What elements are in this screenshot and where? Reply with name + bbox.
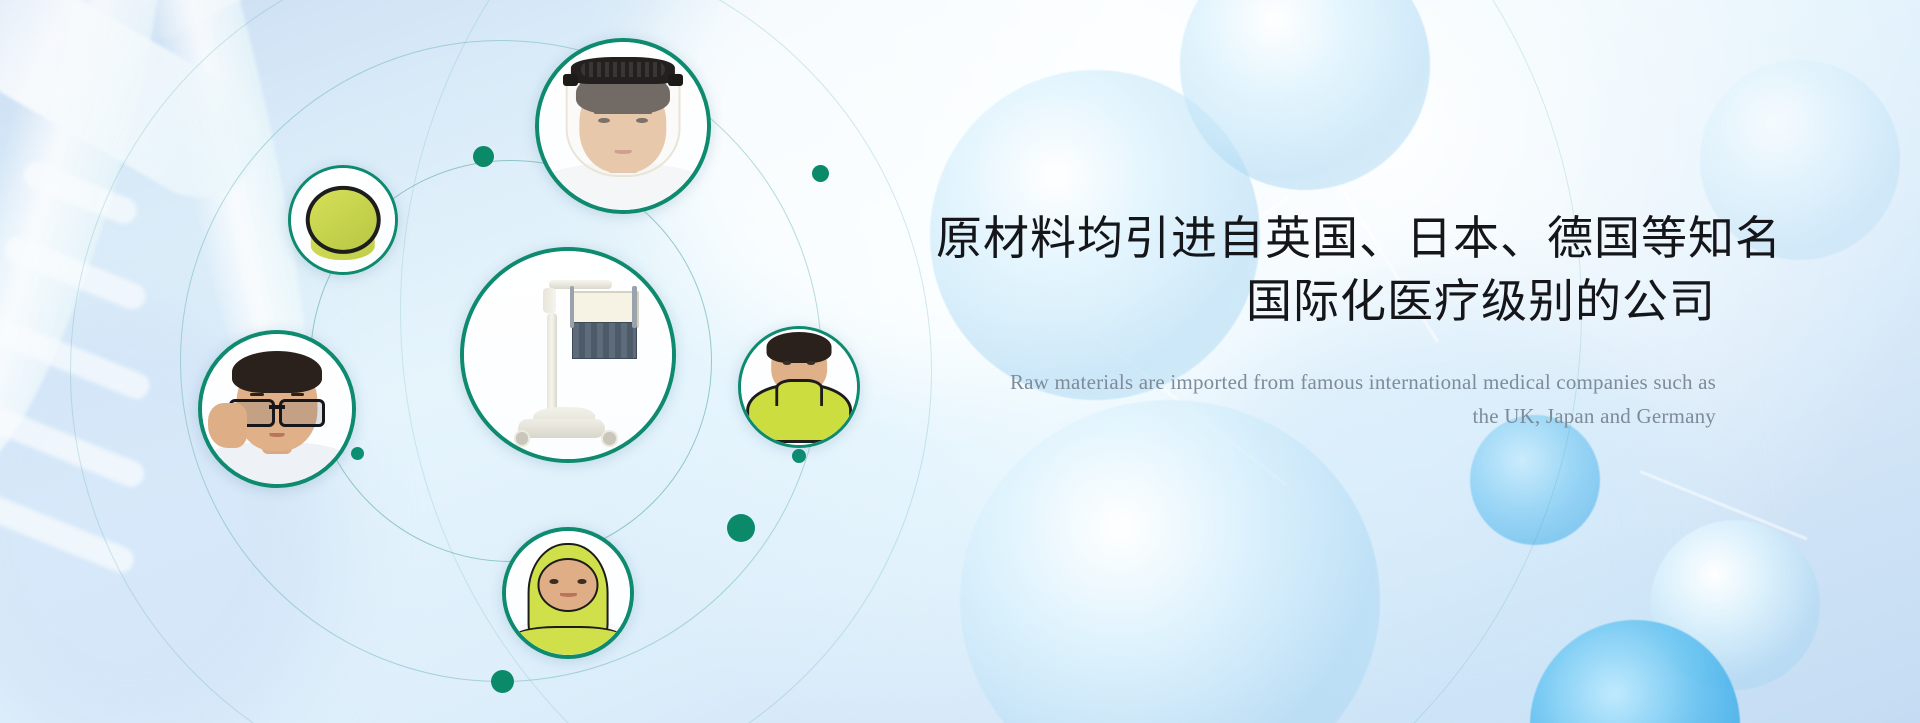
stand-base	[518, 419, 605, 438]
panel-hook-right	[632, 286, 636, 328]
molecule-sphere	[1650, 520, 1820, 690]
hair	[767, 332, 832, 362]
mouth	[559, 593, 576, 597]
shield-panel-skirt	[572, 322, 636, 359]
product-circle-mobile-shield[interactable]	[460, 247, 676, 463]
panel-hook-left	[570, 286, 574, 328]
product-circle-lead-glasses[interactable]	[198, 330, 356, 488]
cap-crown	[306, 186, 381, 254]
face-shield-pivot-left	[563, 74, 578, 86]
caster-left	[514, 430, 530, 446]
accent-dot	[491, 670, 514, 693]
eyebrow-left	[250, 393, 264, 396]
lead-glasses-photo	[202, 334, 352, 484]
subheadline: Raw materials are imported from famous i…	[936, 365, 1716, 433]
collar-neck	[775, 379, 823, 407]
hand	[208, 403, 247, 448]
thyroid-collar-cape	[746, 383, 852, 442]
stand-pole	[547, 313, 556, 421]
product-circle-lead-hood[interactable]	[502, 527, 634, 659]
headline-line-1: 原材料均引进自英国、日本、德国等知名	[936, 208, 1716, 269]
thyroid-collar-photo	[741, 329, 857, 445]
caster-right	[601, 430, 617, 446]
molecule-bond	[1639, 470, 1807, 540]
eye-left	[550, 579, 559, 583]
accent-dot	[792, 449, 806, 463]
product-circle-thyroid-collar[interactable]	[738, 326, 860, 448]
accent-dot	[351, 447, 364, 460]
glasses-bridge	[269, 405, 284, 409]
mouth	[270, 433, 285, 437]
hair	[232, 351, 322, 393]
face-shield-headband	[571, 57, 675, 84]
accent-dot	[812, 165, 829, 182]
hero-banner: 原材料均引进自英国、日本、德国等知名 国际化医疗级别的公司 Raw materi…	[0, 0, 1920, 723]
subheadline-line-2: the UK, Japan and Germany	[936, 399, 1716, 433]
accent-dot	[473, 146, 494, 167]
lead-hood-photo	[506, 531, 630, 655]
subheadline-line-1: Raw materials are imported from famous i…	[936, 365, 1716, 399]
eye-right	[577, 579, 586, 583]
face-shield-photo	[539, 42, 707, 210]
shield-stand	[464, 251, 672, 459]
hood-drape	[510, 626, 627, 655]
face-shield-visor	[566, 71, 681, 177]
lead-cap-photo	[291, 168, 395, 272]
stand-arm-joint	[543, 288, 555, 313]
face-opening	[537, 558, 598, 612]
eyebrow-right	[291, 393, 305, 396]
headline-block: 原材料均引进自英国、日本、德国等知名 国际化医疗级别的公司 Raw materi…	[936, 208, 1716, 433]
product-circle-lead-cap[interactable]	[288, 165, 398, 275]
product-circle-face-shield[interactable]	[535, 38, 711, 214]
stand-arm	[549, 280, 611, 289]
glasses-lens-right	[279, 399, 325, 428]
headline-line-2: 国际化医疗级别的公司	[936, 271, 1716, 332]
accent-dot	[727, 514, 755, 542]
face-shield-pivot-right	[668, 74, 683, 86]
molecule-sphere-accent	[1530, 620, 1740, 723]
mobile-radiation-shield-photo	[464, 251, 672, 459]
